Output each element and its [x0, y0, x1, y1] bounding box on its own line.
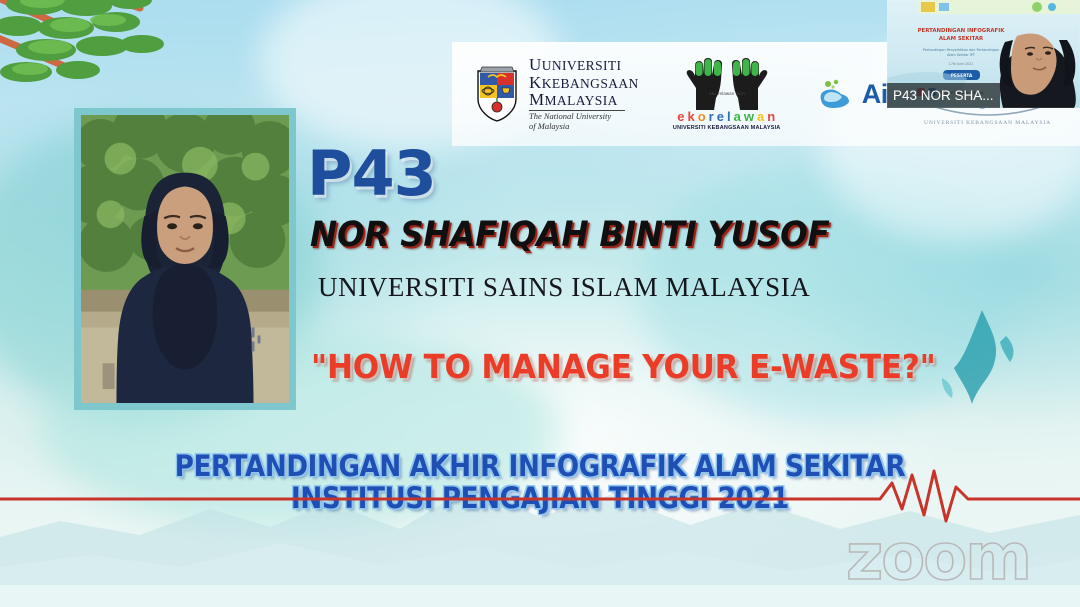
participant-video-tile[interactable]: PERTANDINGAN INFOGRAFIK ALAM SEKITAR Per… [887, 0, 1080, 108]
teal-splash-decoration [920, 300, 1050, 430]
ukm-crest-icon [474, 65, 520, 123]
foliage-decoration-icon [0, 0, 220, 113]
svg-text:Pertandingan Penyelidikan dan: Pertandingan Penyelidikan dan Pertanding… [923, 48, 999, 52]
heartbeat-line-decoration [0, 469, 1080, 529]
ukm-line2: KEBANGSAAN [542, 76, 639, 91]
presenter-photo [74, 108, 296, 410]
ekorelawan-logo: eko relawan ukm ekorelawan UNIVERSITI KE… [663, 58, 791, 131]
presenter-name: NOR SHAFIQAH BINTI YUSOF [310, 218, 829, 253]
svg-text:17th June 2021: 17th June 2021 [949, 62, 973, 66]
svg-text:ALAM SEKITAR: ALAM SEKITAR [939, 36, 984, 42]
ukm-logo: UUNIVERSITI KKEBANGSAAN MMALAYSIA The Na… [474, 56, 639, 132]
svg-text:zoom: zoom [846, 521, 1030, 595]
water-drop-icon [815, 78, 855, 110]
ekorelawan-wordmark: ekorelawan [663, 110, 791, 123]
participant-name-label: P43 NOR SHA... [887, 83, 1000, 108]
zoom-watermark: zoom [842, 521, 1068, 595]
svg-text:PERTANDINGAN INFOGRAFIK: PERTANDINGAN INFOGRAFIK [918, 28, 1006, 34]
ukm-faint-caption: UNIVERSITI KEBANGSAAN MALAYSIA [900, 120, 1075, 126]
ekorelawan-subtitle: UNIVERSITI KEBANGSAAN MALAYSIA [663, 125, 791, 131]
svg-text:Alam Sekitar IPT: Alam Sekitar IPT [947, 53, 976, 57]
eko-micro-text: eko relawan ukm [709, 91, 745, 96]
ukm-line3: MALAYSIA [545, 93, 618, 108]
presenter-institution: UNIVERSITI SAINS ISLAM MALAYSIA [318, 272, 810, 303]
presentation-topic: "HOW TO MANAGE YOUR E-WASTE?" [311, 350, 936, 383]
ukm-tagline-2: of Malaysia [529, 122, 639, 132]
ukm-line1: UNIVERSITI [542, 58, 622, 73]
hands-icon: eko relawan ukm [668, 58, 786, 110]
zoom-meeting-screenshare: UUNIVERSITI KKEBANGSAAN MMALAYSIA The Na… [0, 0, 1080, 607]
presenter-code: P43 [307, 143, 436, 205]
